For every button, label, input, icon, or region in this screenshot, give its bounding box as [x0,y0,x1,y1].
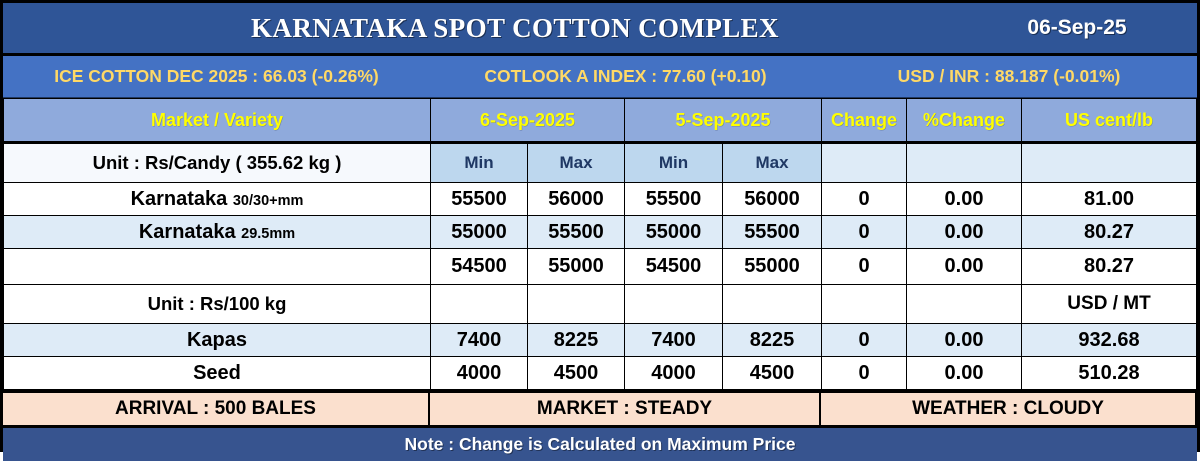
unit-candy-row: Unit : Rs/Candy ( 355.62 kg ) Min Max Mi… [4,143,1197,183]
title-bar: KARNATAKA SPOT COTTON COMPLEX 06-Sep-25 [3,3,1197,56]
col-header-us-cent-lb: US cent/lb [1022,99,1197,143]
cell-prev-min: 55000 [625,216,723,249]
unit-candy-label: Unit : Rs/Candy ( 355.62 kg ) [4,143,431,183]
cotlook-index-quote: COTLOOK A INDEX : 77.60 (+0.10) [430,56,821,97]
table-row: Karnataka 29.5mm 55000 55500 55000 55500… [4,216,1197,249]
cell-usd-mt: 932.68 [1022,324,1197,357]
unit2-blank-2 [528,285,625,324]
note-bar: Note : Change is Calculated on Maximum P… [3,425,1197,461]
cell-usd-mt: 510.28 [1022,357,1197,390]
variety-spec: 29.5mm [241,226,295,242]
price-table-wrapper: Market / Variety 6-Sep-2025 5-Sep-2025 C… [3,98,1197,390]
col-header-change: Change [822,99,907,143]
cell-today-max: 4500 [528,357,625,390]
subheader-uscent-blank [1022,143,1197,183]
cell-today-max: 55000 [528,249,625,285]
subheader-today-max: Max [528,143,625,183]
status-market: MARKET : STEADY [430,393,821,425]
cell-us-cent-lb: 81.00 [1022,183,1197,216]
variety-label: Karnataka 29.5mm [4,216,431,249]
table-row: Kapas 7400 8225 7400 8225 0 0.00 932.68 [4,324,1197,357]
status-bar: ARRIVAL : 500 BALES MARKET : STEADY WEAT… [3,390,1197,425]
unit2-blank-4 [723,285,822,324]
cell-prev-max: 4500 [723,357,822,390]
col-header-pct-change: %Change [907,99,1022,143]
col-header-previous: 5-Sep-2025 [625,99,822,143]
variety-label: Kapas [4,324,431,357]
cell-prev-max: 8225 [723,324,822,357]
cell-today-min: 54500 [431,249,528,285]
cell-pct-change: 0.00 [907,357,1022,390]
cell-pct-change: 0.00 [907,183,1022,216]
table-header-row: Market / Variety 6-Sep-2025 5-Sep-2025 C… [4,99,1197,143]
variety-label: Karnataka 30/30+mm [4,183,431,216]
subheader-pct-blank [907,143,1022,183]
cell-prev-max: 55000 [723,249,822,285]
cell-pct-change: 0.00 [907,249,1022,285]
table-row: 54500 55000 54500 55000 0 0.00 80.27 [4,249,1197,285]
cell-pct-change: 0.00 [907,324,1022,357]
cell-pct-change: 0.00 [907,216,1022,249]
spot-price-report: KARNATAKA SPOT COTTON COMPLEX 06-Sep-25 … [0,0,1200,452]
usd-inr-quote: USD / INR : 88.187 (-0.01%) [821,56,1197,97]
col-header-today: 6-Sep-2025 [431,99,625,143]
variety-label-redacted [4,249,431,285]
unit2-blank-5 [822,285,907,324]
cell-today-min: 55000 [431,216,528,249]
variety-spec: 30/30+mm [233,193,304,209]
cell-change: 0 [822,324,907,357]
price-table: Market / Variety 6-Sep-2025 5-Sep-2025 C… [3,98,1197,390]
cell-prev-min: 55500 [625,183,723,216]
cell-prev-min: 7400 [625,324,723,357]
table-row: Karnataka 30/30+mm 55500 56000 55500 560… [4,183,1197,216]
variety-name: Karnataka [131,188,228,210]
cell-today-min: 4000 [431,357,528,390]
futures-index-bar: ICE COTTON DEC 2025 : 66.03 (-0.26%) COT… [3,56,1197,98]
unit2-blank-1 [431,285,528,324]
unit2-blank-6 [907,285,1022,324]
cell-change: 0 [822,357,907,390]
cell-prev-max: 55500 [723,216,822,249]
status-weather: WEATHER : CLOUDY [821,393,1197,425]
cell-prev-min: 54500 [625,249,723,285]
cell-today-max: 55500 [528,216,625,249]
cell-change: 0 [822,216,907,249]
subheader-today-min: Min [431,143,528,183]
cell-today-min: 7400 [431,324,528,357]
unit-100kg-row: Unit : Rs/100 kg USD / MT [4,285,1197,324]
table-row: Seed 4000 4500 4000 4500 0 0.00 510.28 [4,357,1197,390]
variety-name: Karnataka [139,221,236,243]
report-date: 06-Sep-25 [957,3,1197,53]
cell-today-max: 8225 [528,324,625,357]
cell-change: 0 [822,183,907,216]
cell-us-cent-lb: 80.27 [1022,249,1197,285]
status-arrival: ARRIVAL : 500 BALES [3,393,430,425]
cell-today-min: 55500 [431,183,528,216]
unit-100kg-label: Unit : Rs/100 kg [4,285,431,324]
cell-change: 0 [822,249,907,285]
cell-prev-max: 56000 [723,183,822,216]
subheader-change-blank [822,143,907,183]
subheader-usd-mt: USD / MT [1022,285,1197,324]
variety-label: Seed [4,357,431,390]
col-header-market-variety: Market / Variety [4,99,431,143]
ice-cotton-quote: ICE COTTON DEC 2025 : 66.03 (-0.26%) [3,56,430,97]
cell-us-cent-lb: 80.27 [1022,216,1197,249]
subheader-prev-max: Max [723,143,822,183]
cell-today-max: 56000 [528,183,625,216]
unit2-blank-3 [625,285,723,324]
subheader-prev-min: Min [625,143,723,183]
cell-prev-min: 4000 [625,357,723,390]
